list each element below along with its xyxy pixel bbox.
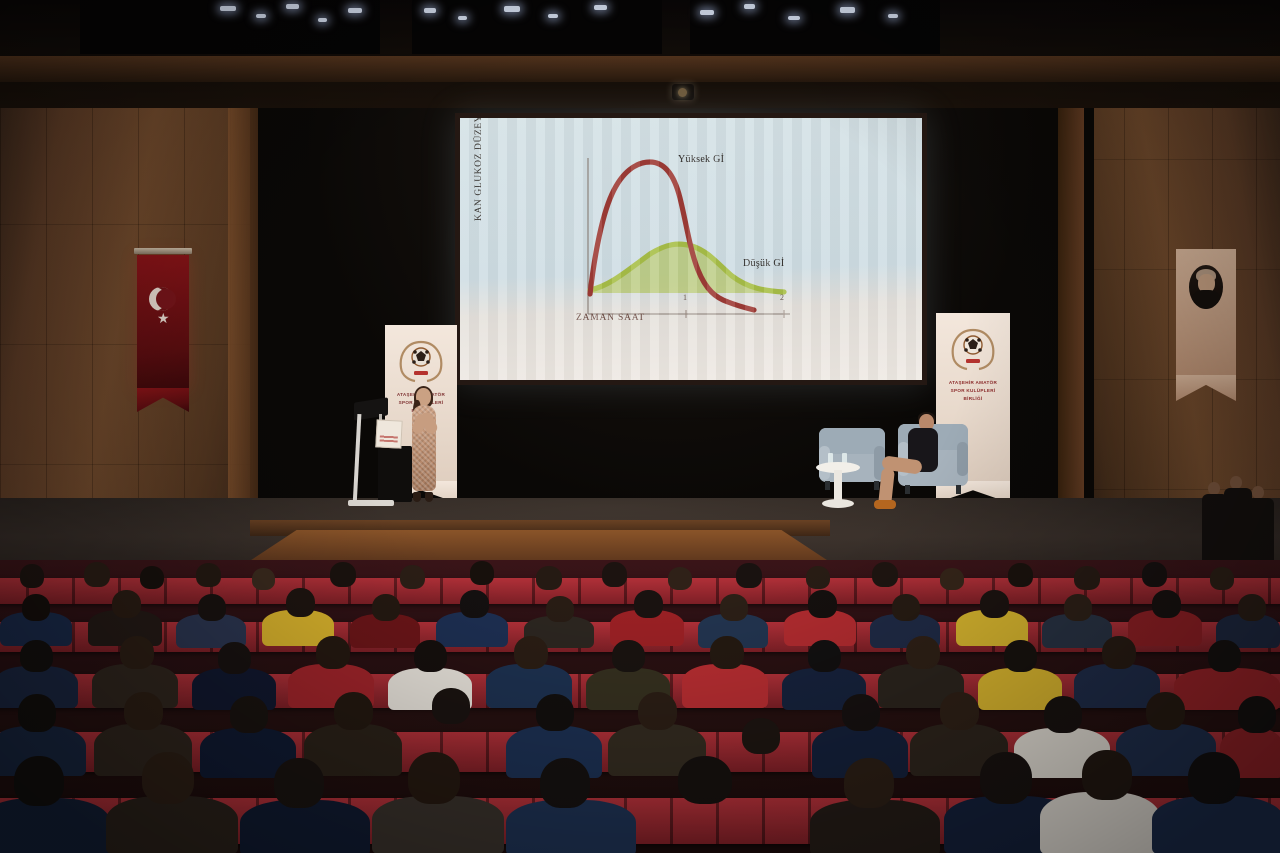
projection-screen-frame: KAN GLUKOZ DÜZEYİ ZAMAN SAAT Yüksek Gİ D… [455, 113, 927, 385]
audience-head [736, 563, 762, 588]
audience-head [84, 562, 110, 587]
guest-shoe [874, 500, 896, 509]
audience-head [1208, 640, 1241, 672]
audience-head [334, 692, 373, 730]
audience-head [872, 562, 898, 587]
audience-head [1188, 752, 1240, 804]
football-wreath-emblem-icon [395, 338, 447, 384]
audience-head [844, 758, 894, 808]
audience-head [808, 590, 837, 618]
audience-shoulders [1152, 796, 1280, 853]
audience-head [286, 588, 315, 617]
audience-head [668, 567, 692, 590]
audience-head [536, 566, 562, 590]
audience-head [980, 590, 1009, 618]
audience-head [274, 758, 324, 808]
audience-head [806, 566, 830, 589]
chart-x-axis-label: ZAMAN SAAT [576, 313, 645, 323]
audience-head [1146, 692, 1185, 730]
audience-head [1102, 636, 1136, 669]
audience-head [112, 590, 141, 618]
auditorium-scene: KAN GLUKOZ DÜZEYİ ZAMAN SAAT Yüksek Gİ D… [0, 0, 1280, 853]
audience-head [230, 696, 268, 733]
armchair-leg [956, 485, 961, 494]
audience-shoulders [106, 796, 238, 853]
chart-annotation-low-gi: Düşük Gİ [743, 258, 785, 269]
projector-lens-icon [678, 88, 687, 97]
audience-head [20, 564, 44, 588]
armchair-leg [874, 481, 879, 490]
audience-head [742, 718, 780, 754]
audience-head [1238, 696, 1276, 733]
audience-head [20, 640, 53, 672]
audience-head [634, 590, 663, 618]
audience-head [1210, 567, 1234, 590]
presenter-shoe [413, 492, 421, 502]
audience-head [1044, 696, 1082, 733]
audience-head [142, 752, 194, 804]
audience-head [1238, 594, 1266, 621]
org-line-2: SPOR KULÜPLERİ [940, 387, 1006, 395]
lectern [348, 400, 388, 508]
audience-head [710, 636, 744, 669]
audience-head [400, 565, 425, 589]
audience-head [842, 694, 880, 731]
audience-head [638, 692, 677, 730]
side-table [816, 462, 860, 510]
audience-head [940, 568, 964, 590]
lighting-rig [690, 0, 940, 56]
audience-area: SİTESPOR SPOR ATAŞ [0, 560, 1280, 853]
lectern-base [348, 500, 394, 506]
portrait-suit [1192, 290, 1220, 309]
audience-head [18, 694, 56, 732]
audience-head [892, 594, 920, 621]
audience-head [940, 692, 979, 730]
org-line-3: BİRLİĞİ [940, 395, 1006, 403]
projection-screen: KAN GLUKOZ DÜZEYİ ZAMAN SAAT Yüksek Gİ D… [460, 118, 922, 380]
audience-head [514, 636, 548, 669]
ataturk-portrait-banner [1176, 249, 1236, 377]
lectern-post [353, 414, 362, 506]
lighting-rig [412, 0, 662, 56]
glycemic-index-chart: KAN GLUKOZ DÜZEYİ ZAMAN SAAT Yüksek Gİ D… [460, 118, 922, 380]
seated-guest [886, 414, 944, 510]
audience-head [1152, 590, 1181, 618]
audience-head [602, 562, 627, 587]
side-table-stem [834, 470, 842, 502]
audience-head [1064, 594, 1092, 621]
portrait-oval [1189, 265, 1223, 309]
audience-head [432, 688, 470, 724]
audience-head [1074, 566, 1100, 590]
audience-head [372, 594, 400, 621]
audience-shoulders [372, 796, 504, 853]
turkish-flag-banner: ★ [137, 255, 189, 390]
audience-shoulders [1040, 792, 1160, 853]
audience-head [808, 640, 841, 672]
star-icon: ★ [157, 313, 170, 327]
audience-head [536, 694, 574, 731]
audience-head [540, 758, 590, 808]
audience-head [460, 590, 489, 618]
audience-head [198, 594, 226, 621]
chart-tick-label-2: 2 [780, 293, 784, 302]
audience-head [330, 562, 356, 587]
audience-head [22, 594, 50, 621]
audience-head [612, 640, 645, 672]
audience-head [414, 640, 447, 672]
org-banner-right-text: ATAŞEHİR AMATÖR SPOR KULÜPLERİ BİRLİĞİ [940, 379, 1006, 403]
chart-annotation-high-gi: Yüksek Gİ [678, 154, 724, 165]
audience-head [980, 752, 1032, 804]
presenter-shoe [425, 492, 433, 502]
armchair-arm [957, 442, 968, 476]
audience-head [470, 561, 494, 585]
audience-head [546, 596, 574, 622]
side-table-foot [822, 499, 854, 508]
audience-head [906, 636, 940, 669]
audience-head [720, 594, 748, 621]
audience-head [140, 566, 164, 589]
audience-head [1082, 750, 1132, 800]
chart-tick-label-1: 1 [683, 293, 687, 302]
org-line-1: ATAŞEHİR AMATÖR [940, 379, 1006, 387]
flag-rod [134, 248, 192, 254]
crescent-icon [149, 287, 173, 311]
ceiling-beam [0, 56, 1280, 82]
audience-head [14, 756, 64, 806]
chart-y-axis-label: KAN GLUKOZ DÜZEYİ [474, 118, 484, 221]
audience-head [196, 563, 221, 587]
football-wreath-emblem-icon [947, 326, 999, 372]
audience-head [678, 756, 732, 804]
lectern-sign [375, 419, 402, 448]
audience-head [316, 636, 350, 669]
audience-head [1142, 562, 1167, 587]
audience-shoulders [682, 664, 768, 708]
presenter [404, 388, 444, 504]
lighting-rig [80, 0, 380, 56]
audience-head [120, 636, 154, 669]
audience-head [408, 752, 460, 804]
audience-head [124, 692, 163, 730]
audience-shoulders [0, 798, 110, 853]
audience-head [1008, 563, 1033, 587]
audience-head [252, 568, 275, 590]
audience-head [218, 642, 251, 674]
audience-head [1004, 640, 1037, 672]
